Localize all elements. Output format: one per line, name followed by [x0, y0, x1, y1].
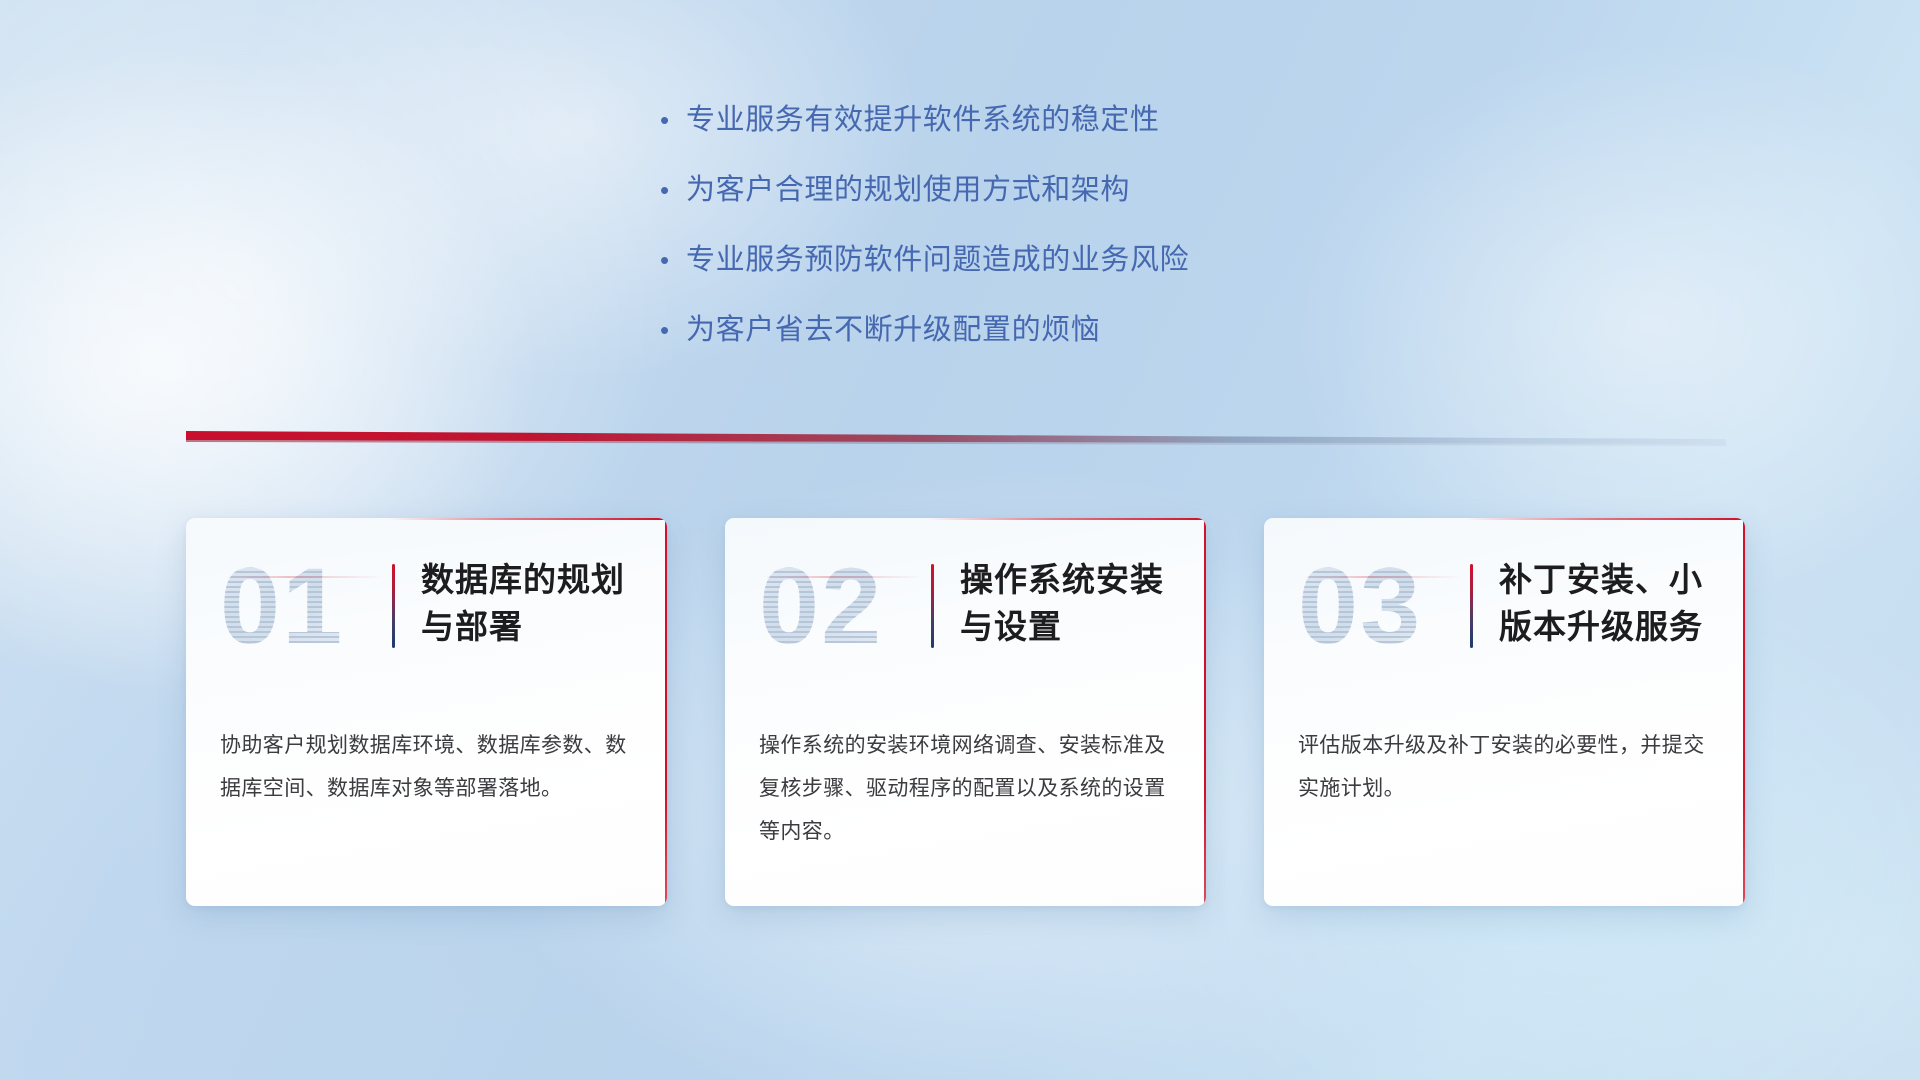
card-body-text: 协助客户规划数据库环境、数据库参数、数据库空间、数据库对象等部署落地。 — [220, 724, 630, 810]
bullet-dot-icon: • — [660, 170, 686, 210]
service-card[interactable]: 02 操作系统安装与设置 操作系统的安装环境网络调查、安装标准及复核步骤、驱动程… — [725, 518, 1206, 906]
card-step-number: 03 — [1298, 546, 1466, 666]
list-item: • 专业服务有效提升软件系统的稳定性 — [660, 100, 1480, 140]
divider-rule-icon — [186, 425, 1726, 451]
list-item: • 为客户合理的规划使用方式和架构 — [660, 170, 1480, 210]
benefits-bullet-list: • 专业服务有效提升软件系统的稳定性 • 为客户合理的规划使用方式和架构 • 专… — [660, 100, 1480, 380]
service-card-row: 01 数据库的规划与部署 协助客户规划数据库环境、数据库参数、数据库空间、数据库… — [186, 518, 1746, 918]
card-divider-bar-icon — [1470, 564, 1473, 648]
bullet-dot-icon: • — [660, 100, 686, 140]
bullet-text: 为客户合理的规划使用方式和架构 — [686, 170, 1130, 210]
card-body-text: 评估版本升级及补丁安装的必要性，并提交实施计划。 — [1298, 724, 1708, 810]
slide-canvas: • 专业服务有效提升软件系统的稳定性 • 为客户合理的规划使用方式和架构 • 专… — [0, 0, 1920, 1080]
card-divider-bar-icon — [931, 564, 934, 648]
card-step-number: 02 — [759, 546, 927, 666]
card-title: 数据库的规划与部署 — [421, 552, 631, 650]
bullet-text: 专业服务有效提升软件系统的稳定性 — [686, 100, 1160, 140]
list-item: • 为客户省去不断升级配置的烦恼 — [660, 310, 1480, 350]
card-body-text: 操作系统的安装环境网络调查、安装标准及复核步骤、驱动程序的配置以及系统的设置等内… — [759, 724, 1169, 853]
card-step-number: 01 — [220, 546, 388, 666]
section-divider — [186, 425, 1726, 451]
bullet-text: 为客户省去不断升级配置的烦恼 — [686, 310, 1100, 350]
bullet-text: 专业服务预防软件问题造成的业务风险 — [686, 240, 1189, 280]
card-title: 操作系统安装与设置 — [960, 552, 1170, 650]
bullet-dot-icon: • — [660, 310, 686, 350]
service-card[interactable]: 01 数据库的规划与部署 协助客户规划数据库环境、数据库参数、数据库空间、数据库… — [186, 518, 667, 906]
card-divider-bar-icon — [392, 564, 395, 648]
card-title: 补丁安装、小版本升级服务 — [1499, 552, 1709, 650]
service-card[interactable]: 03 补丁安装、小版本升级服务 评估版本升级及补丁安装的必要性，并提交实施计划。 — [1264, 518, 1745, 906]
bullet-dot-icon: • — [660, 240, 686, 280]
list-item: • 专业服务预防软件问题造成的业务风险 — [660, 240, 1480, 280]
